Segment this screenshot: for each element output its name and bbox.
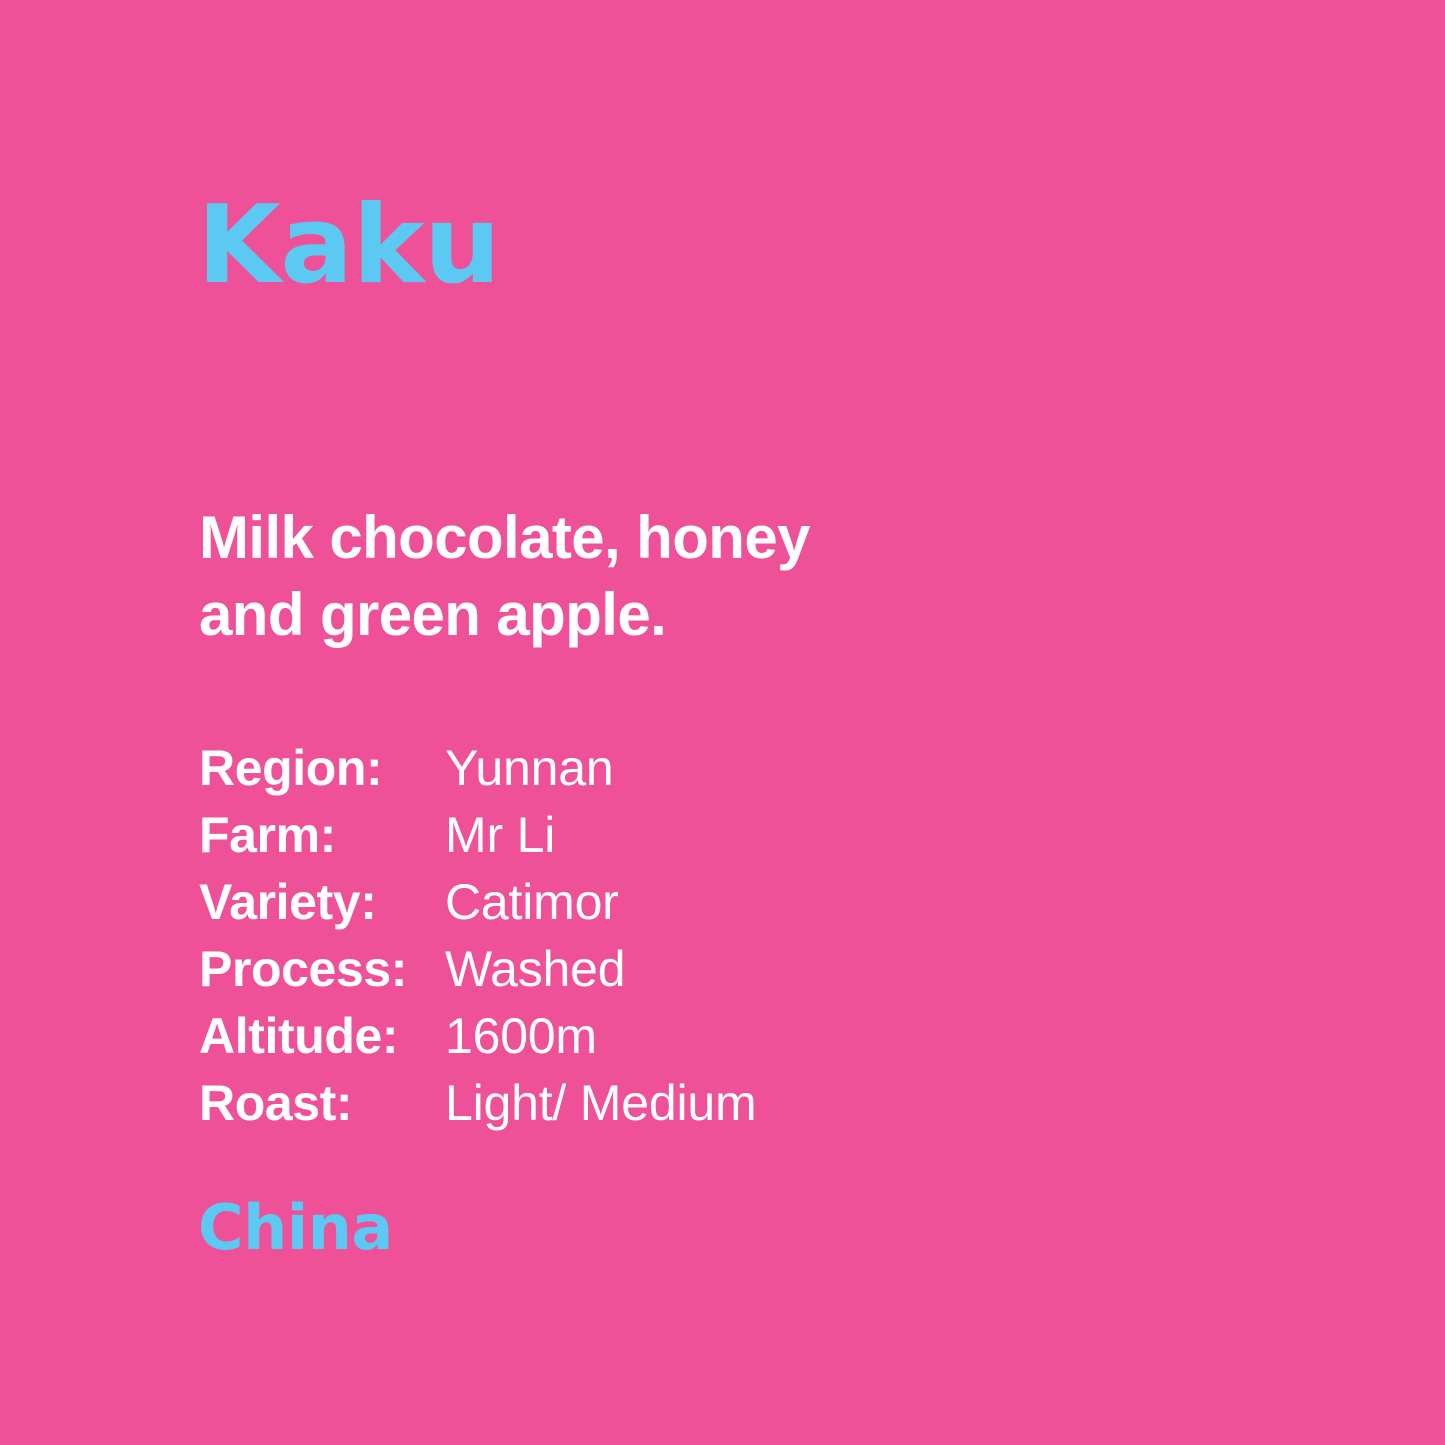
detail-row-roast: Roast: Light/ Medium [199,1070,756,1137]
tasting-notes: Milk chocolate, honey and green apple. [199,499,959,653]
detail-row-variety: Variety: Catimor [199,869,756,936]
detail-value-farm: Mr Li [445,802,555,869]
detail-value-variety: Catimor [445,869,619,936]
tasting-notes-line-1: Milk chocolate, honey [199,499,959,576]
tasting-notes-line-2: and green apple. [199,576,959,653]
detail-value-region: Yunnan [445,735,613,802]
detail-label-roast: Roast: [199,1070,445,1137]
detail-value-altitude: 1600m [445,1003,597,1070]
detail-label-farm: Farm: [199,802,445,869]
detail-value-roast: Light/ Medium [445,1070,756,1137]
page-title: Kaku [197,192,500,300]
detail-row-farm: Farm: Mr Li [199,802,756,869]
detail-row-region: Region: Yunnan [199,735,756,802]
detail-value-process: Washed [445,936,625,1003]
details-table: Region: Yunnan Farm: Mr Li Variety: Cati… [199,735,756,1137]
coffee-label-card: Kaku Milk chocolate, honey and green app… [0,0,1445,1445]
detail-label-variety: Variety: [199,869,445,936]
detail-label-process: Process: [199,936,445,1003]
detail-row-altitude: Altitude: 1600m [199,1003,756,1070]
detail-label-region: Region: [199,735,445,802]
detail-label-altitude: Altitude: [199,1003,445,1070]
origin-country: China [198,1197,393,1259]
detail-row-process: Process: Washed [199,936,756,1003]
